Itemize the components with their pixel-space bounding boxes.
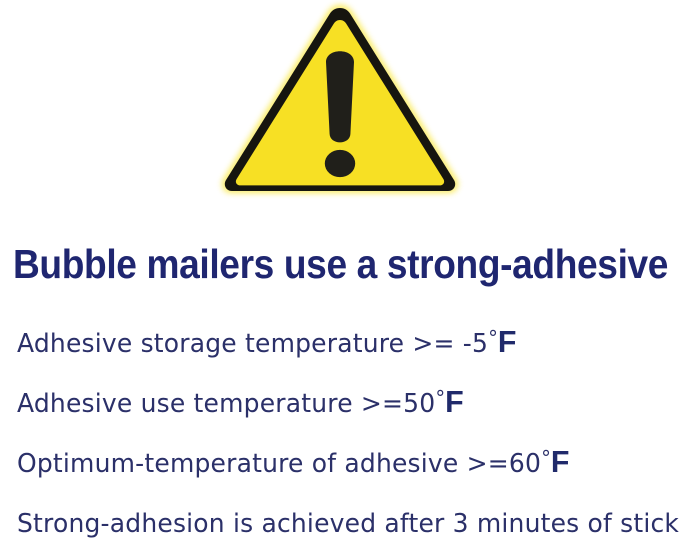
- spec-line-optimum-temperature: Optimum-temperature of adhesive >=60°F: [17, 436, 666, 496]
- degree-symbol: °: [435, 386, 445, 410]
- degree-symbol: °: [541, 446, 551, 470]
- spec-line-text: Optimum-temperature of adhesive >=60: [17, 449, 541, 479]
- page-title: Bubble mailers use a strong-adhesive: [13, 241, 607, 289]
- unit-label: F: [551, 444, 570, 479]
- spec-line-text: Strong-adhesion is achieved after 3 minu…: [17, 509, 679, 539]
- degree-symbol: °: [488, 326, 498, 350]
- product-infographic-page: Bubble mailers use a strong-adhesive Adh…: [0, 0, 679, 553]
- warning-triangle-svg: [215, 0, 465, 200]
- unit-label: F: [445, 384, 464, 419]
- spec-line-text: Adhesive storage temperature >= -5: [17, 329, 488, 359]
- exclamation-bar-icon: [326, 51, 354, 142]
- spec-line-use-temperature: Adhesive use temperature >=50°F: [17, 376, 666, 436]
- spec-list: Adhesive storage temperature >= -5°F Adh…: [17, 316, 679, 556]
- exclamation-dot-icon: [325, 150, 355, 177]
- spec-line-adhesion-time: Strong-adhesion is achieved after 3 minu…: [17, 496, 666, 556]
- unit-label: F: [498, 324, 517, 359]
- spec-line-storage-temperature: Adhesive storage temperature >= -5°F: [17, 316, 666, 376]
- spec-line-text: Adhesive use temperature >=50: [17, 389, 435, 419]
- warning-triangle-icon: [215, 0, 465, 200]
